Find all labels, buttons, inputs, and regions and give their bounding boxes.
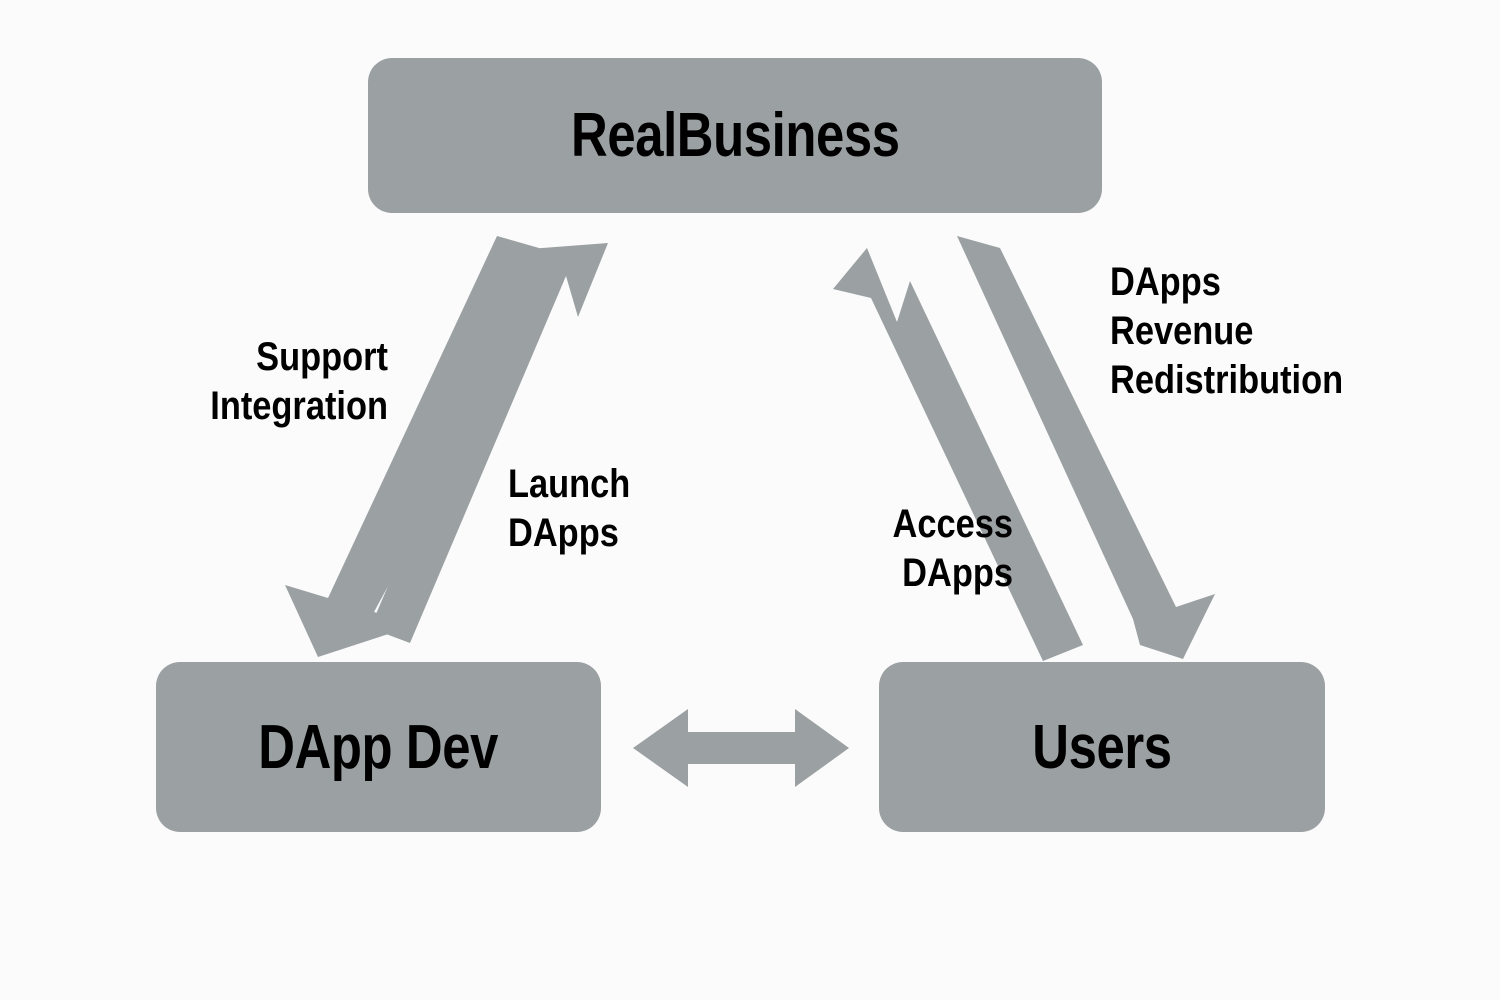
edge-label-dapps-revenue-redistribution: DApps Revenue Redistribution bbox=[1110, 258, 1420, 404]
node-users[interactable]: Users bbox=[879, 662, 1325, 832]
arrow-dappdev-users-bidirectional bbox=[633, 709, 849, 787]
edge-label-support-integration: Support Integration bbox=[139, 333, 388, 431]
arrow-access-dapps bbox=[833, 248, 1083, 661]
edge-label-launch-dapps: Launch DApps bbox=[508, 460, 714, 558]
node-dapp-dev-label: DApp Dev bbox=[259, 712, 499, 783]
node-users-label: Users bbox=[1032, 712, 1171, 783]
node-dapp-dev[interactable]: DApp Dev bbox=[156, 662, 601, 832]
node-realbusiness-label: RealBusiness bbox=[571, 100, 900, 171]
diagram-canvas: RealBusiness DApp Dev Users Support Inte… bbox=[0, 0, 1500, 1000]
edge-label-access-dapps: Access DApps bbox=[820, 500, 1014, 598]
node-realbusiness[interactable]: RealBusiness bbox=[368, 58, 1102, 213]
